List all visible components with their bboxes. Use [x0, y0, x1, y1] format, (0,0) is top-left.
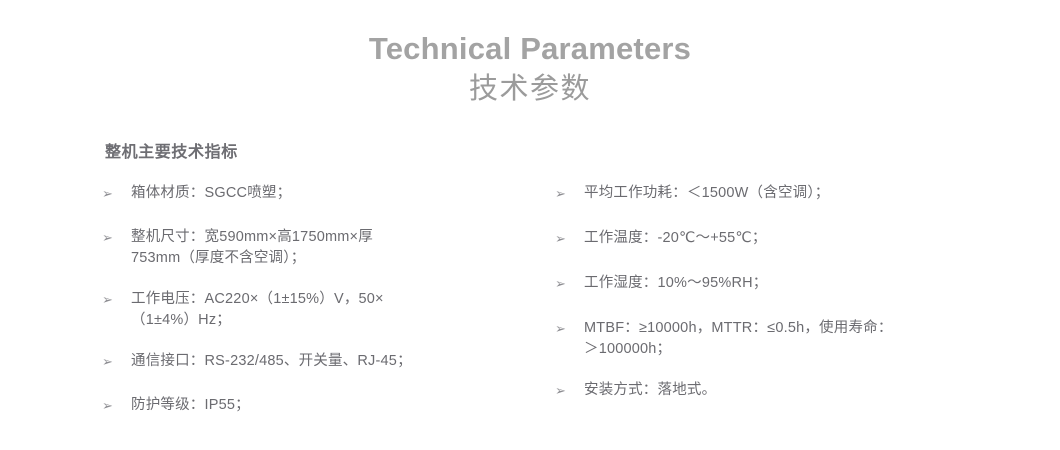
page-title-english: Technical Parameters	[0, 33, 1060, 66]
arrowhead-right-icon: ➢	[555, 380, 575, 401]
spec-item-text: 工作电压：AC220×（1±15%）V，50× （1±4%）Hz；	[131, 289, 502, 331]
spec-item: ➢平均工作功耗：＜1500W（含空调）；	[555, 183, 1000, 204]
spec-list-right: ➢平均工作功耗：＜1500W（含空调）；➢工作温度：-20℃～+55℃；➢工作湿…	[555, 183, 1000, 401]
spec-item: ➢防护等级：IP55；	[102, 395, 502, 416]
arrowhead-right-icon: ➢	[555, 183, 575, 204]
arrowhead-right-icon: ➢	[102, 351, 122, 372]
spec-item-text: 整机尺寸：宽590mm×高1750mm×厚 753mm（厚度不含空调）；	[131, 227, 502, 269]
spec-item-text: 箱体材质：SGCC喷塑；	[131, 183, 502, 204]
spec-item: ➢箱体材质：SGCC喷塑；	[102, 183, 502, 204]
spec-item: ➢MTBF：≥10000h，MTTR：≤0.5h，使用寿命： ＞100000h；	[555, 318, 1000, 360]
spec-item: ➢整机尺寸：宽590mm×高1750mm×厚 753mm（厚度不含空调）；	[102, 227, 502, 269]
spec-item-text: 安装方式：落地式。	[584, 380, 1000, 401]
spec-item-text: 防护等级：IP55；	[131, 395, 502, 416]
spec-columns: ➢箱体材质：SGCC喷塑；➢整机尺寸：宽590mm×高1750mm×厚 753m…	[0, 183, 1060, 443]
arrowhead-right-icon: ➢	[102, 289, 122, 310]
spec-item: ➢工作温度：-20℃～+55℃；	[555, 228, 1000, 249]
spec-item: ➢通信接口：RS-232/485、开关量、RJ-45；	[102, 351, 502, 372]
arrowhead-right-icon: ➢	[555, 318, 575, 339]
arrowhead-right-icon: ➢	[555, 228, 575, 249]
spec-item-text: 平均工作功耗：＜1500W（含空调）；	[584, 183, 1000, 204]
arrowhead-right-icon: ➢	[555, 273, 575, 294]
page-title-chinese: 技术参数	[0, 70, 1060, 109]
spec-item: ➢工作湿度：10%～95%RH；	[555, 273, 1000, 294]
spec-item-text: 工作温度：-20℃～+55℃；	[584, 228, 1000, 249]
section-heading: 整机主要技术指标	[105, 138, 238, 162]
spec-item-text: MTBF：≥10000h，MTTR：≤0.5h，使用寿命： ＞100000h；	[584, 318, 1000, 360]
arrowhead-right-icon: ➢	[102, 183, 122, 204]
spec-item-text: 通信接口：RS-232/485、开关量、RJ-45；	[131, 351, 502, 372]
page-header: Technical Parameters 技术参数	[0, 0, 1060, 109]
arrowhead-right-icon: ➢	[102, 395, 122, 416]
spec-list-left: ➢箱体材质：SGCC喷塑；➢整机尺寸：宽590mm×高1750mm×厚 753m…	[102, 183, 502, 416]
spec-item: ➢安装方式：落地式。	[555, 380, 1000, 401]
arrowhead-right-icon: ➢	[102, 227, 122, 248]
spec-item-text: 工作湿度：10%～95%RH；	[584, 273, 1000, 294]
technical-parameters-page: { "header": { "title_en": "Technical Par…	[0, 0, 1060, 450]
spec-item: ➢工作电压：AC220×（1±15%）V，50× （1±4%）Hz；	[102, 289, 502, 331]
